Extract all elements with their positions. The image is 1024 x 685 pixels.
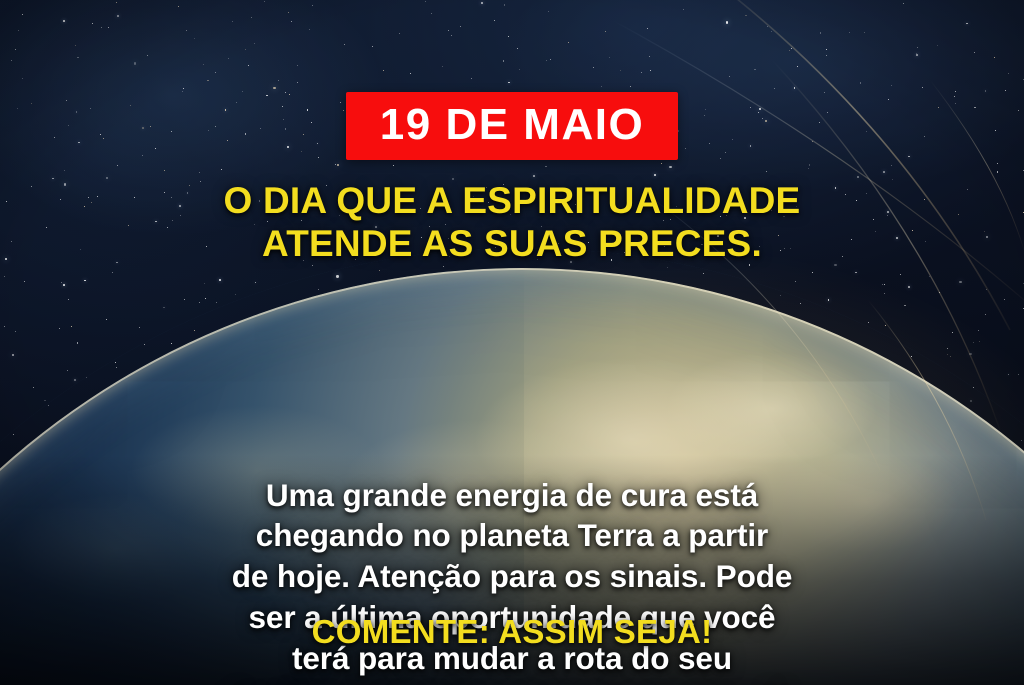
headline: O DIA QUE A ESPIRITUALIDADE ATENDE AS SU… (224, 180, 801, 266)
body-line-2: chegando no planeta Terra a partir (62, 515, 962, 556)
poster-content: 19 DE MAIO O DIA QUE A ESPIRITUALIDADE A… (0, 0, 1024, 685)
body-line-3: de hoje. Atenção para os sinais. Pode (62, 556, 962, 597)
headline-line-1: O DIA QUE A ESPIRITUALIDADE (224, 180, 801, 221)
body-line-1: Uma grande energia de cura está (62, 475, 962, 516)
poster-canvas: 19 DE MAIO O DIA QUE A ESPIRITUALIDADE A… (0, 0, 1024, 685)
body-paragraph: Uma grande energia de cura está chegando… (62, 475, 962, 685)
call-to-action-text: COMENTE: ASSIM SEJA! (0, 613, 1024, 651)
headline-line-2: ATENDE AS SUAS PRECES. (224, 223, 801, 266)
date-badge: 19 DE MAIO (346, 92, 678, 160)
body-line-6: destino. Mentalize coisas boas com fé. (62, 679, 962, 685)
